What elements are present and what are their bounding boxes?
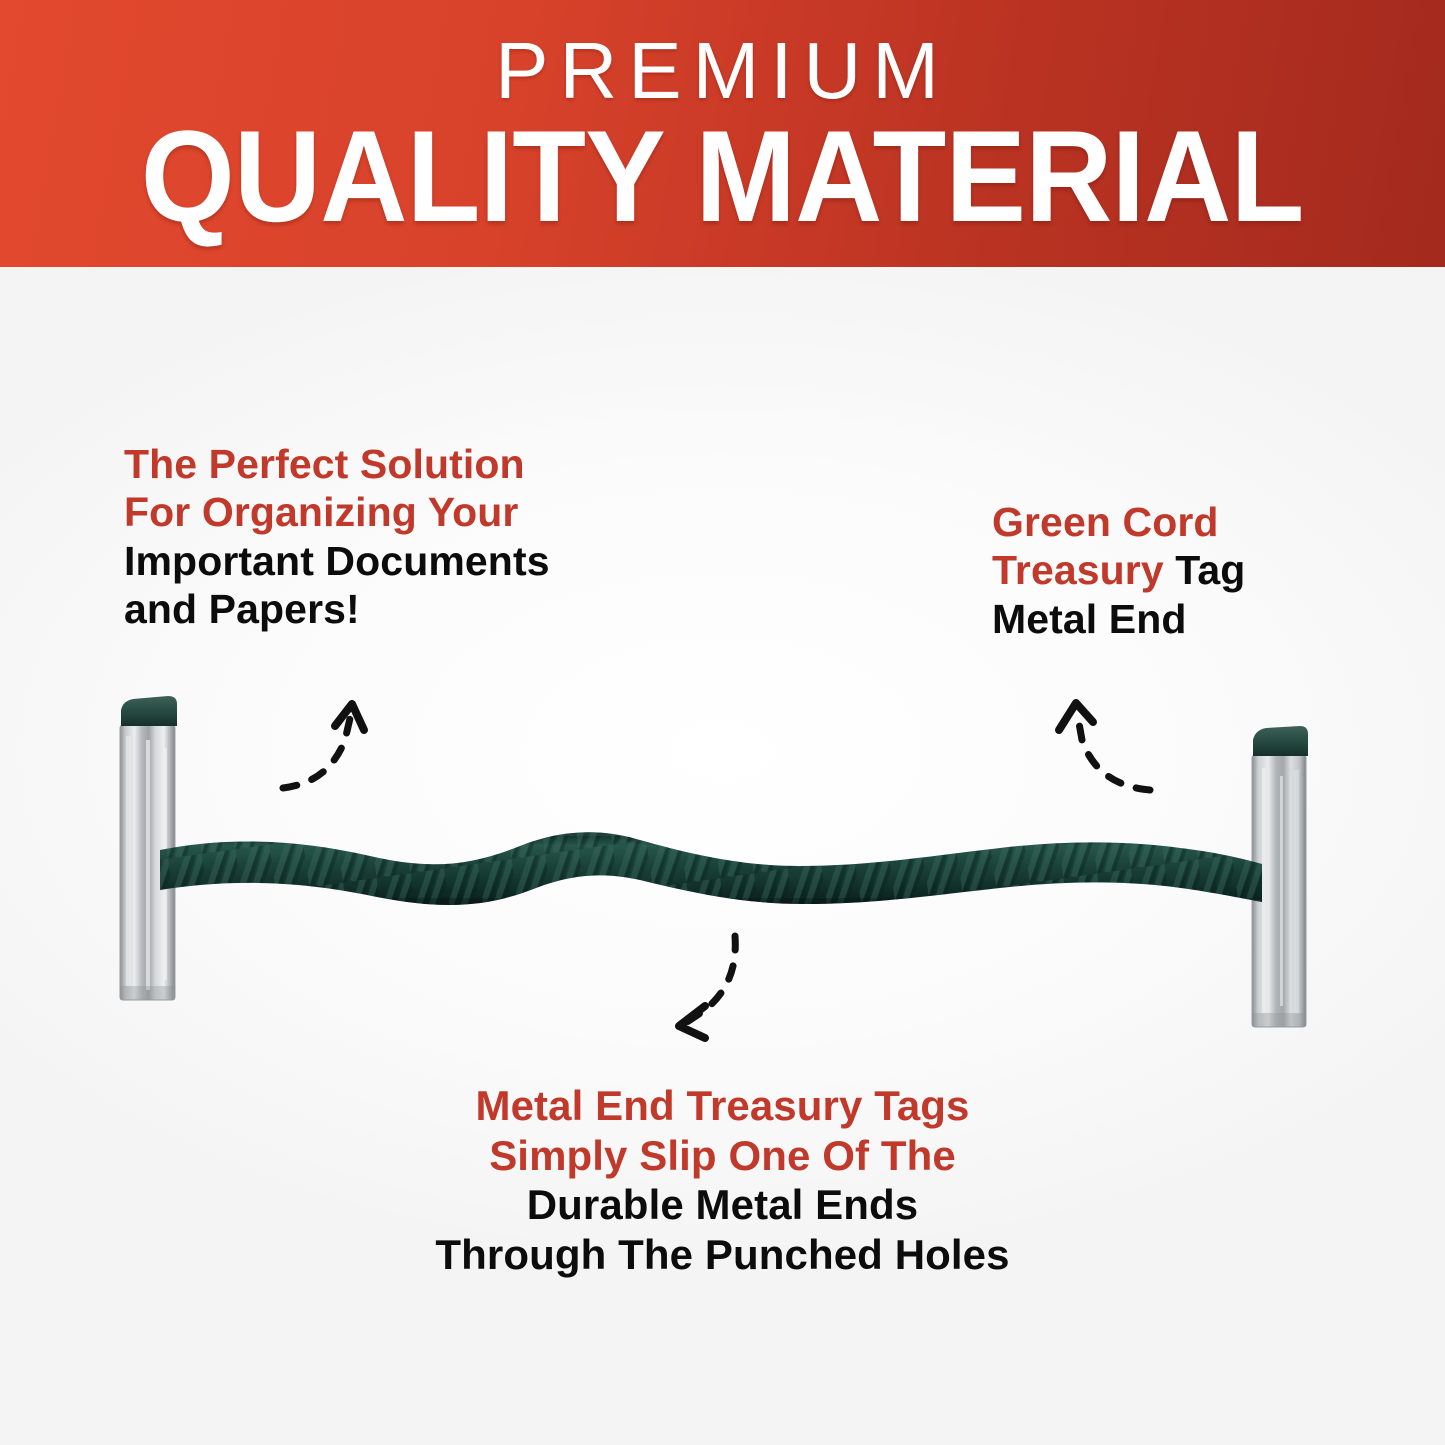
callout-right-line-3: Metal End bbox=[992, 595, 1245, 643]
green-cord bbox=[150, 810, 1280, 930]
callout-bottom-line-4: Through The Punched Holes bbox=[0, 1230, 1445, 1280]
callout-bottom-line-2: Simply Slip One Of The bbox=[0, 1131, 1445, 1181]
callout-right-line-2: Treasury Tag bbox=[992, 546, 1245, 594]
callout-right-line-2-red: Treasury bbox=[992, 547, 1175, 593]
arrow-to-left-callout bbox=[265, 688, 395, 803]
callout-left: The Perfect Solution For Organizing Your… bbox=[124, 440, 550, 634]
callout-bottom-line-1: Metal End Treasury Tags bbox=[0, 1081, 1445, 1131]
arrow-to-right-callout bbox=[1035, 688, 1165, 803]
right-cord-tip bbox=[1253, 726, 1308, 756]
left-metal-end bbox=[120, 696, 177, 1000]
left-cord-tip bbox=[121, 696, 177, 726]
callout-left-line-3: Important Documents bbox=[124, 537, 550, 585]
callout-left-line-2: For Organizing Your bbox=[124, 488, 550, 536]
callout-bottom: Metal End Treasury Tags Simply Slip One … bbox=[0, 1081, 1445, 1279]
callout-right-line-2-black: Tag bbox=[1175, 547, 1245, 593]
arrow-to-bottom-callout bbox=[655, 922, 785, 1047]
callout-left-line-1: The Perfect Solution bbox=[124, 440, 550, 488]
callout-right-line-1: Green Cord bbox=[992, 498, 1245, 546]
callout-bottom-line-3: Durable Metal Ends bbox=[0, 1180, 1445, 1230]
infographic-page: PREMIUM QUALITY MATERIAL The Perfect Sol… bbox=[0, 0, 1445, 1445]
header-banner: PREMIUM QUALITY MATERIAL bbox=[0, 0, 1445, 267]
banner-line-2: QUALITY MATERIAL bbox=[141, 116, 1304, 236]
banner-line-1: PREMIUM bbox=[495, 28, 950, 114]
callout-right: Green Cord Treasury Tag Metal End bbox=[992, 498, 1245, 643]
callout-left-line-4: and Papers! bbox=[124, 585, 550, 633]
